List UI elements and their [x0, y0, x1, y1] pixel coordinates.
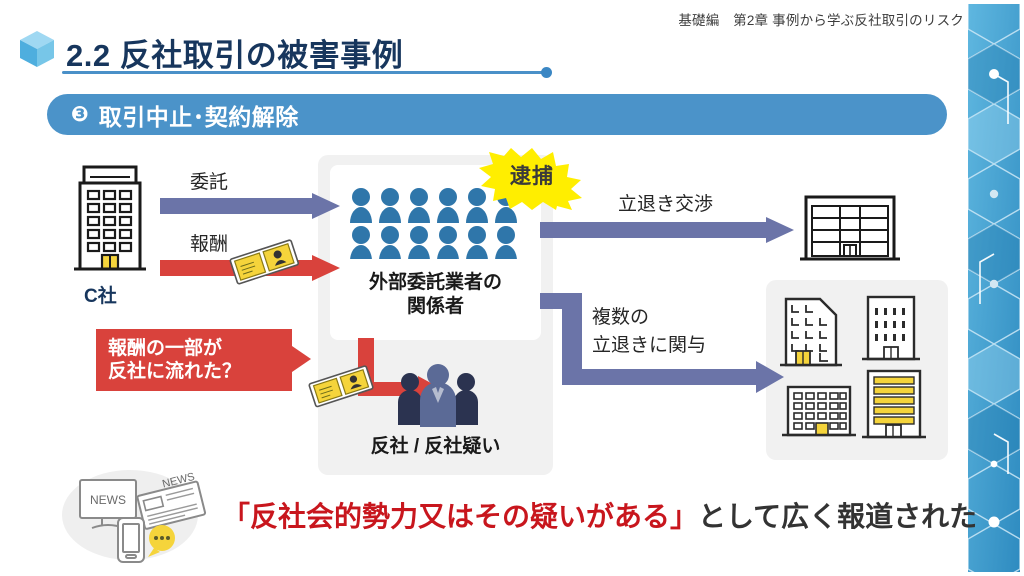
hansha-node-caption: 反社 / 反社疑い: [330, 435, 541, 459]
center-node-caption-line1: 外部委託業者の: [330, 271, 541, 295]
title-underline: [62, 71, 546, 74]
money-envelope-icon: [228, 237, 300, 285]
section-label: 取引中止･契約解除: [99, 98, 299, 132]
callout-line2: 反社に流れた？: [108, 360, 292, 383]
footer-tail: として広く報道された: [698, 501, 977, 532]
arrow-houshu-label: 報酬: [190, 229, 228, 256]
money-envelope-icon-2: [308, 363, 376, 409]
center-node-caption-line2: 関係者: [330, 295, 541, 319]
news-media-icon: NEWS NEWS: [62, 466, 214, 564]
suited-people-icon: [396, 363, 480, 429]
arrest-burst-label: 逮捕: [473, 160, 591, 190]
page-title: 2.2 反社取引の被害事例: [66, 30, 403, 75]
arrow-itaku: [160, 193, 340, 219]
buildings-cluster-icon: [778, 291, 936, 449]
c-company-label: C社: [84, 281, 117, 308]
section-number: ❸: [71, 104, 89, 125]
title-underline-dot: [541, 67, 552, 78]
callout-line1: 報酬の一部が: [108, 337, 292, 360]
footer-quote: 「反社会的勢力又はその疑いがある」: [222, 501, 698, 532]
arrow-fukusuu-label-line2: 立退きに関与: [592, 330, 706, 357]
footer-caption: 「反社会的勢力又はその疑いがある」として広く報道された: [222, 495, 977, 535]
slide-root: 基礎編 第2章 事例から学ぶ反社取引のリスク 2.2 反社取引の被害事例 ❸ 取…: [0, 0, 1024, 576]
cube-icon: [18, 29, 56, 69]
arrow-tachinoki-label: 立退き交渉: [618, 189, 713, 216]
section-banner: ❸ 取引中止･契約解除: [47, 94, 947, 135]
wide-building-icon: [798, 193, 902, 265]
callout-pointer: [292, 346, 311, 372]
decorative-hex-band: [968, 4, 1020, 572]
arrow-itaku-label: 委託: [190, 167, 228, 194]
arrow-tachinoki: [540, 217, 794, 243]
svg-text:NEWS: NEWS: [90, 493, 126, 507]
arrow-fukusuu-label-line1: 複数の: [592, 302, 649, 329]
callout-box: 報酬の一部が 反社に流れた？: [96, 329, 292, 391]
diagram-canvas: C社 委託 報酬: [0, 145, 960, 475]
header-breadcrumb: 基礎編 第2章 事例から学ぶ反社取引のリスク: [678, 9, 964, 29]
c-company-building-icon: [70, 165, 150, 277]
